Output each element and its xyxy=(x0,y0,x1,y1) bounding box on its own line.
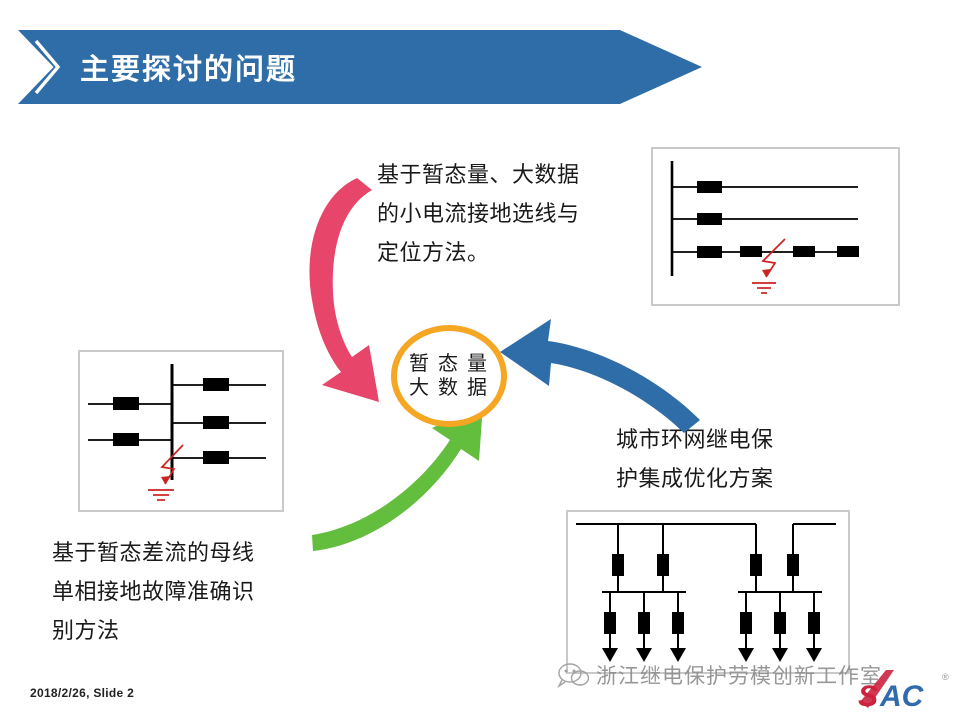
wechat-icon xyxy=(556,661,590,689)
svg-text:®: ® xyxy=(942,672,949,682)
blue-arrow xyxy=(500,319,700,433)
svg-text:S: S xyxy=(858,680,878,713)
slide-canvas: 主要探讨的问题 暂 态 量 大 数 据 基于暂态量、大数据 的小电流接地选线与 … xyxy=(0,0,960,720)
watermark: 浙江继电保护劳模创新工作室 S AC ® xyxy=(556,658,960,714)
pink-arrow xyxy=(309,178,379,402)
center-node-line-2: 大 数 据 xyxy=(409,376,489,400)
sac-logo: S AC ® xyxy=(856,662,960,714)
center-node-line-1: 暂 态 量 xyxy=(409,352,489,376)
svg-text:AC: AC xyxy=(879,680,925,713)
watermark-text: 浙江继电保护劳模创新工作室 xyxy=(596,660,882,690)
center-keyword-node: 暂 态 量 大 数 据 xyxy=(391,325,507,427)
